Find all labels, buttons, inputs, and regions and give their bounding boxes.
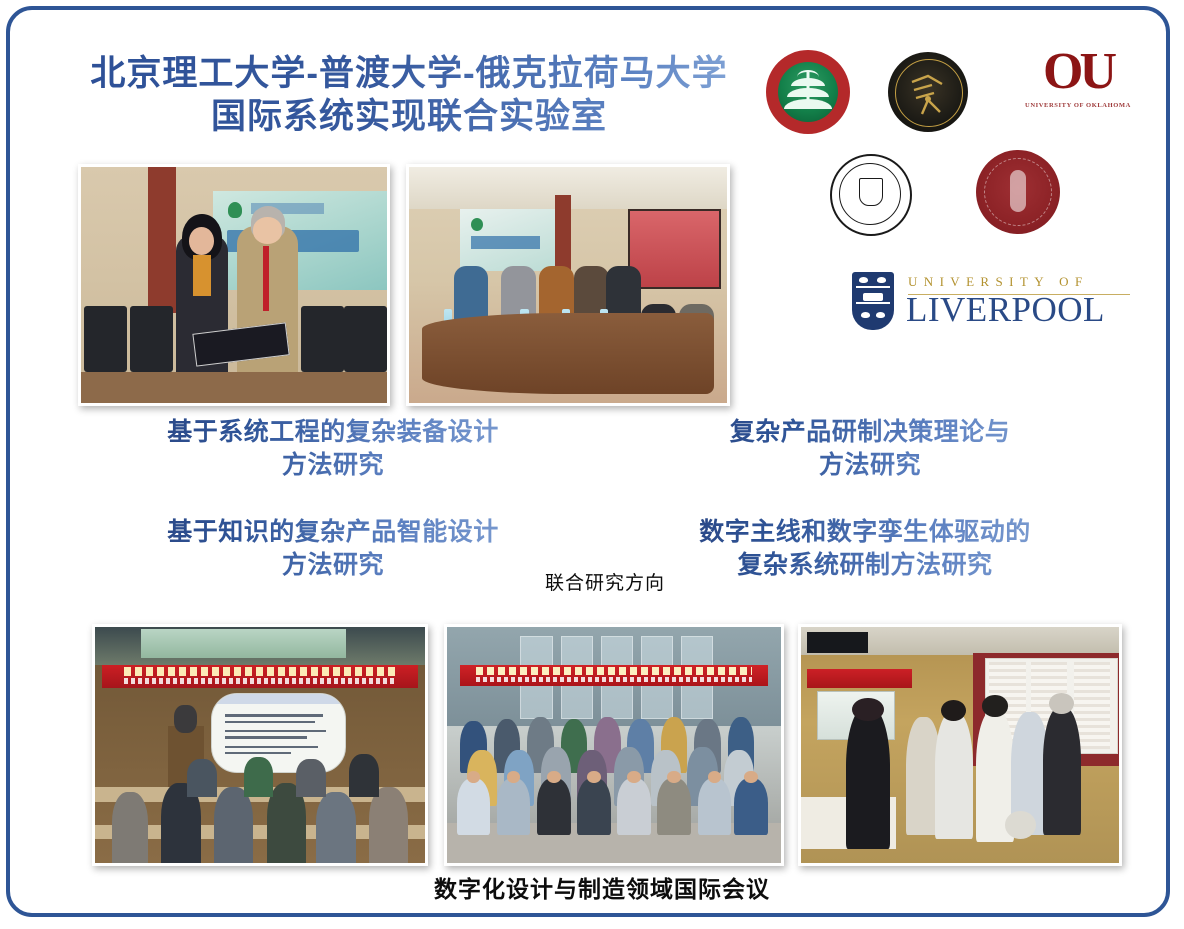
direction-line-1: 复杂产品研制决策理论与 — [730, 418, 1011, 446]
bottom-caption: 数字化设计与制造领域国际会议 — [302, 870, 902, 904]
title-line-2: 国际系统实现联合实验室 — [54, 95, 764, 138]
research-direction-bottom-left: 基于知识的复杂产品智能设计 方法研究 — [98, 516, 568, 581]
liverpool-logo-icon: UNIVERSITY OF LIVERPOOL — [852, 270, 1134, 332]
direction-line-1: 基于系统工程的复杂装备设计 — [167, 418, 499, 446]
research-direction-bottom-right: 数字主线和数字孪生体驱动的 复杂系统研制方法研究 — [640, 516, 1090, 581]
bit-logo-icon — [766, 50, 850, 134]
direction-line-1: 基于知识的复杂产品智能设计 — [167, 518, 499, 546]
ou-monogram: OU — [1018, 46, 1138, 98]
direction-line-2: 方法研究 — [98, 549, 568, 582]
university-seal-bw-icon — [830, 154, 912, 236]
title-line-1: 北京理工大学-普渡大学-俄克拉荷马大学 — [90, 54, 727, 93]
ou-subtitle: UNIVERSITY OF OKLAHOMA — [1018, 102, 1138, 109]
photo-lab-meeting — [406, 164, 730, 406]
purdue-logo-icon — [888, 52, 968, 132]
direction-line-2: 复杂系统研制方法研究 — [640, 549, 1090, 582]
slide-header: 北京理工大学-普渡大学-俄克拉荷马大学 国际系统实现联合实验室 — [10, 10, 1166, 160]
slide-canvas: 北京理工大学-普渡大学-俄克拉荷马大学 国际系统实现联合实验室 — [6, 6, 1170, 917]
center-label-joint-research: 联合研究方向 — [510, 568, 700, 595]
direction-line-2: 方法研究 — [98, 449, 568, 482]
research-direction-top-right: 复杂产品研制决策理论与 方法研究 — [650, 416, 1090, 481]
page-title: 北京理工大学-普渡大学-俄克拉荷马大学 国际系统实现联合实验室 — [54, 52, 764, 139]
oklahoma-logo-icon: OU UNIVERSITY OF OKLAHOMA — [1018, 46, 1138, 138]
photo-symposium-talk — [92, 624, 428, 866]
liverpool-line-1: UNIVERSITY OF — [908, 274, 1089, 290]
direction-line-1: 数字主线和数字孪生体驱动的 — [699, 518, 1031, 546]
photo-symposium-group — [444, 624, 784, 866]
partner-logo-group: OU UNIVERSITY OF OKLAHOMA — [760, 42, 1160, 347]
university-seal-red-icon — [976, 150, 1060, 234]
direction-line-2: 方法研究 — [650, 449, 1090, 482]
photo-poster-session — [798, 624, 1122, 866]
photo-signing-ceremony — [78, 164, 390, 406]
liverpool-line-2: LIVERPOOL — [906, 292, 1105, 327]
research-direction-top-left: 基于系统工程的复杂装备设计 方法研究 — [98, 416, 568, 481]
